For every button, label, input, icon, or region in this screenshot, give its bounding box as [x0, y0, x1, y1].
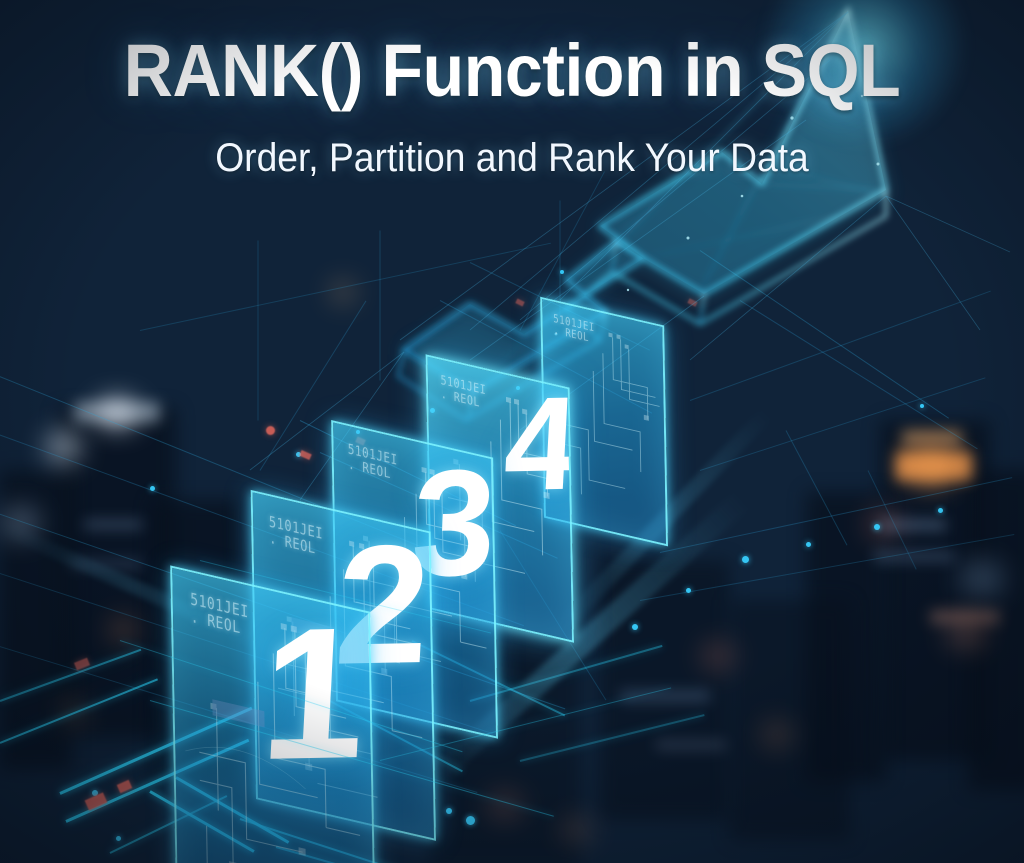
page-title: RANK() Function in SQL [41, 28, 983, 113]
panel-number: 1 [258, 613, 369, 776]
page-subtitle: Order, Partition and Rank Your Data [36, 136, 988, 181]
panel-number: 4 [502, 386, 574, 502]
graphic-canvas: 5101JEI . REOL 5101JEI . REOL 4 [0, 0, 1024, 863]
